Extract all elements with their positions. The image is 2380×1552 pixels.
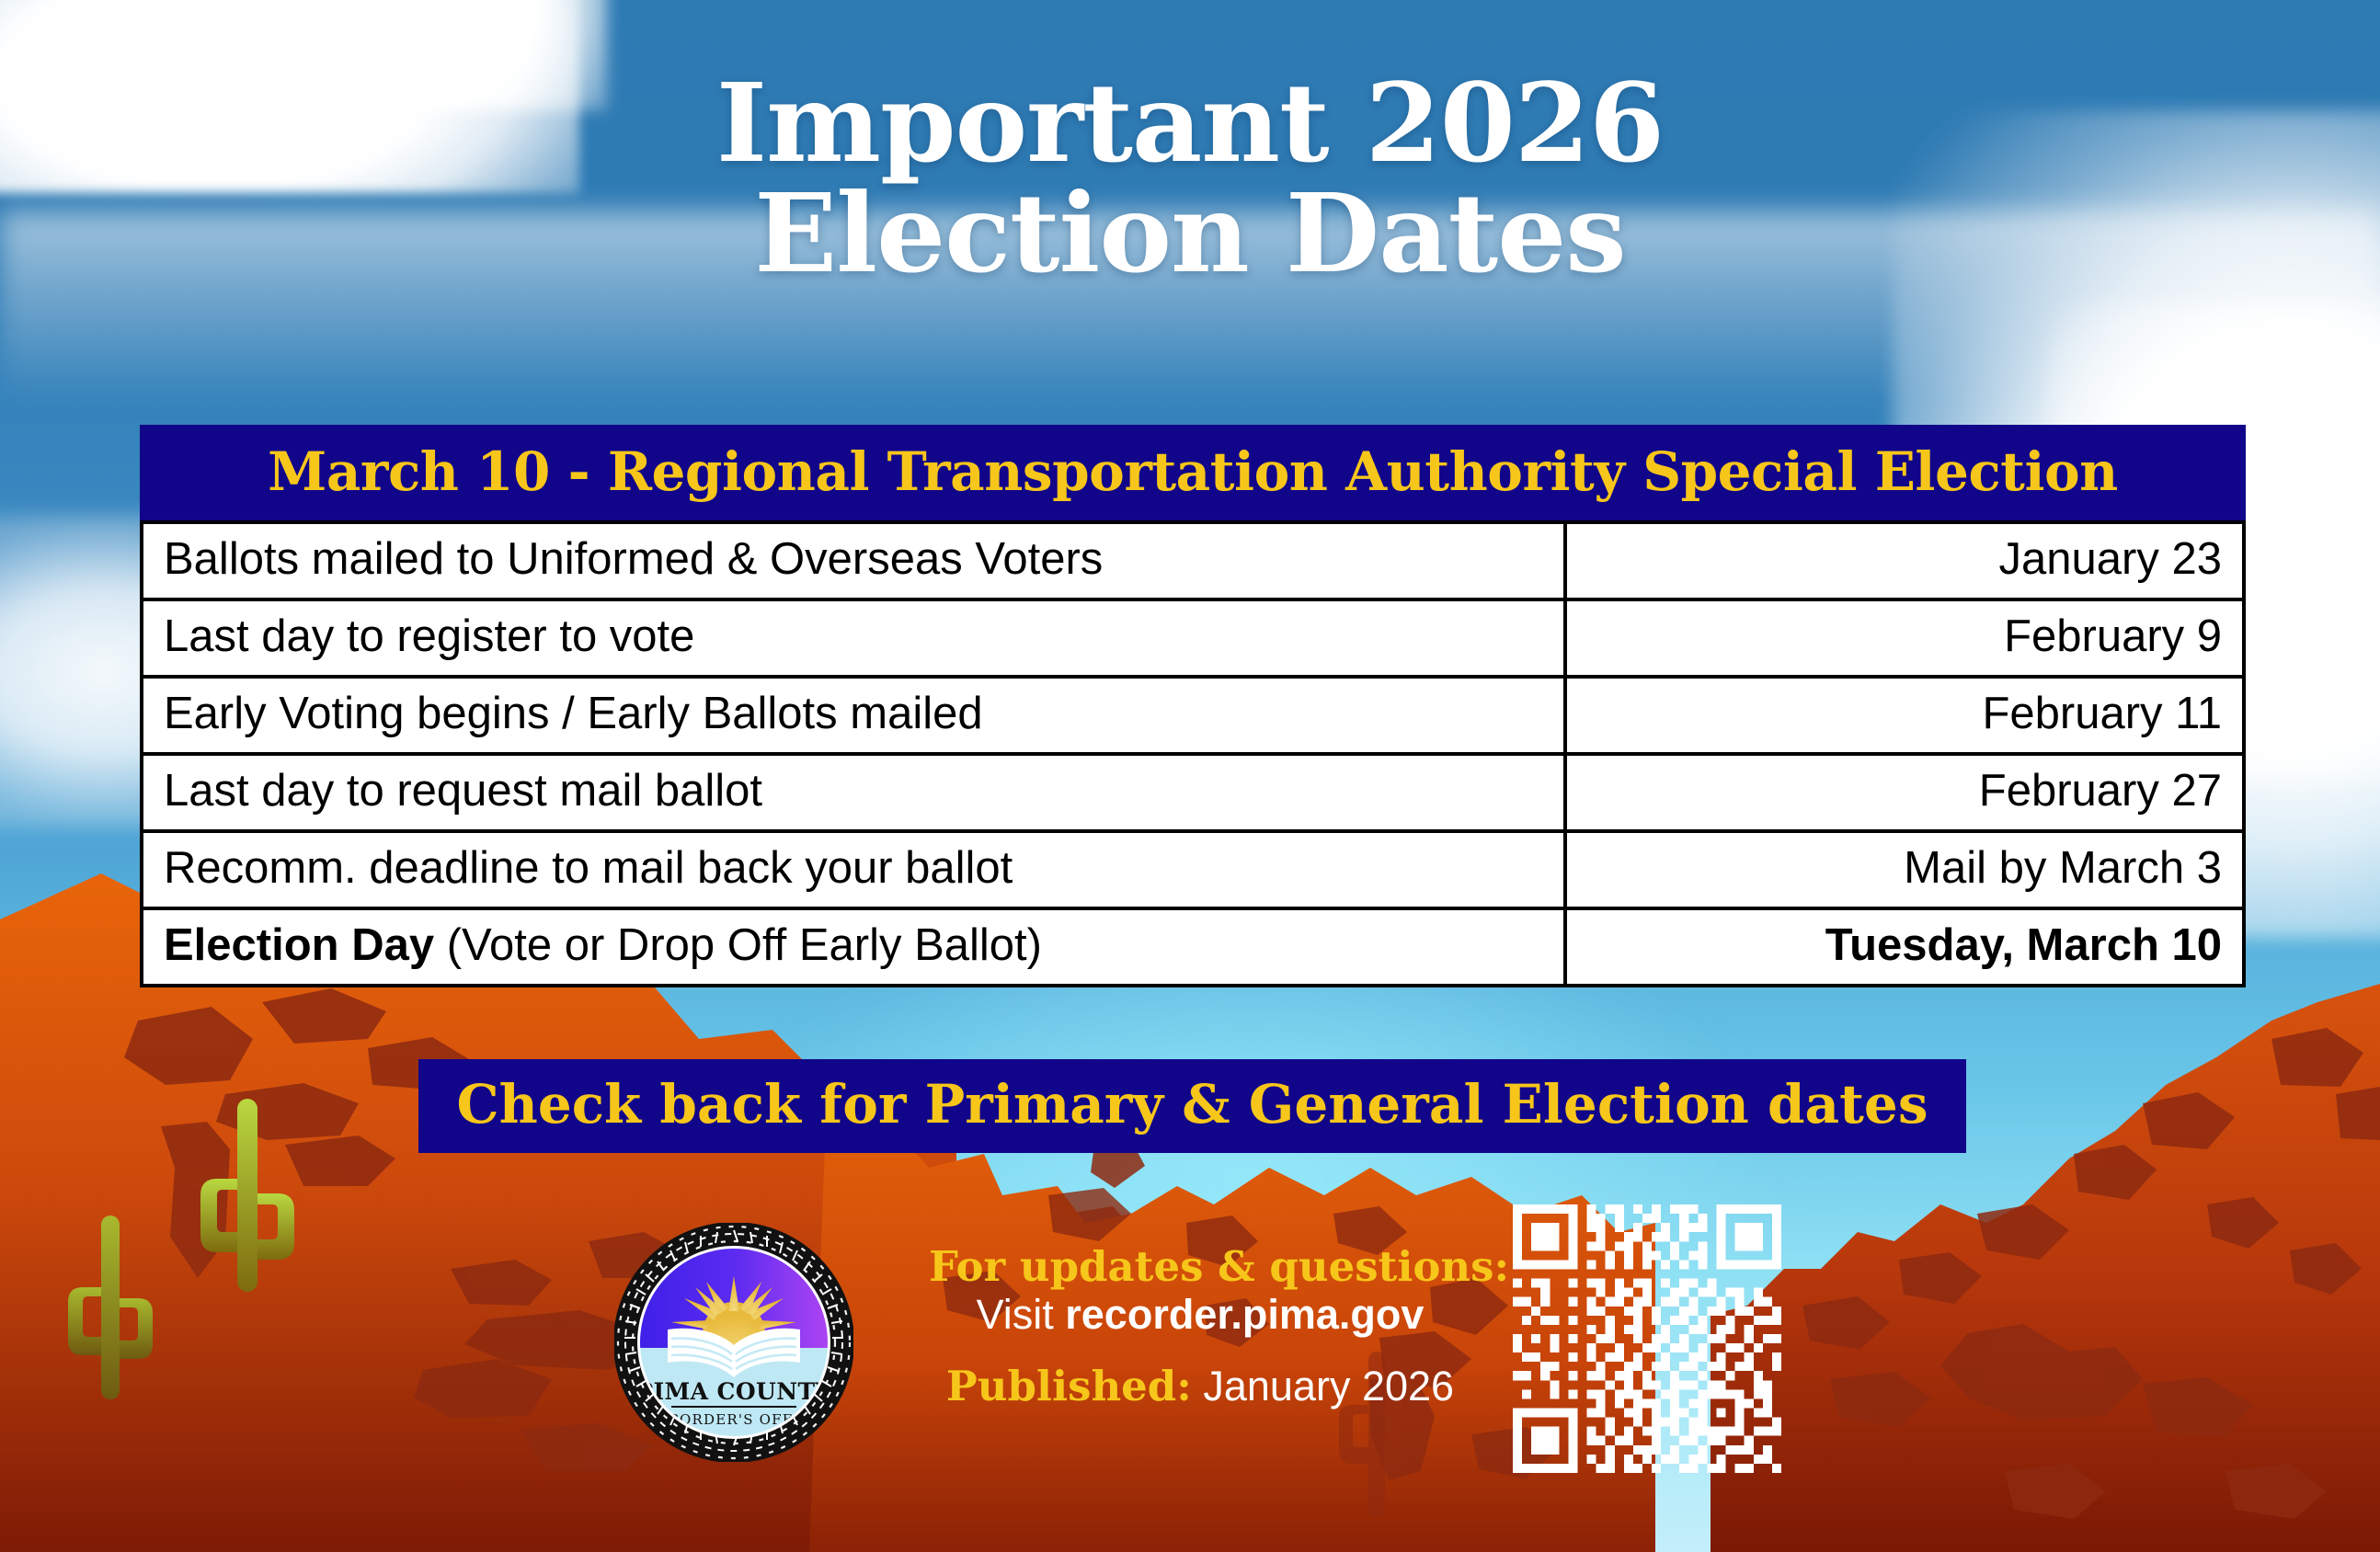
election-dates-table: March 10 - Regional Transportation Autho…	[140, 425, 2246, 987]
contact-block: For updates & questions: Visit recorder.…	[929, 1243, 1471, 1411]
updates-heading: For updates & questions:	[929, 1243, 1471, 1291]
page-title: Important 2026 Election Dates	[0, 68, 2380, 290]
seal-line-1: PIMA COUNTY	[635, 1378, 832, 1405]
row-value: February 27	[1565, 754, 2244, 831]
published-label: Published:	[946, 1362, 1192, 1410]
contact-spacer	[929, 1339, 1471, 1363]
pima-county-recorder-seal-icon: PIMA COUNTY RECORDER'S OFFICE	[614, 1223, 853, 1462]
table-row-election-day: Election Day (Vote or Drop Off Early Bal…	[142, 908, 2244, 986]
dates-table: Ballots mailed to Uniformed & Overseas V…	[140, 520, 2246, 987]
election-day-strong: Election Day	[164, 920, 434, 970]
table-row: Ballots mailed to Uniformed & Overseas V…	[142, 522, 2244, 599]
table-row: Early Voting begins / Early Ballots mail…	[142, 677, 2244, 754]
table-row: Recomm. deadline to mail back your ballo…	[142, 831, 2244, 908]
row-label: Recomm. deadline to mail back your ballo…	[142, 831, 1565, 908]
row-label: Last day to register to vote	[142, 599, 1565, 677]
qr-code-icon[interactable]	[1513, 1204, 1781, 1473]
table-row: Last day to request mail ballot February…	[142, 754, 2244, 831]
election-day-note: (Vote or Drop Off Early Ballot)	[434, 920, 1042, 970]
recorder-url[interactable]: recorder.pima.gov	[1065, 1291, 1424, 1338]
row-value: Mail by March 3	[1565, 831, 2244, 908]
row-value: January 23	[1565, 522, 2244, 599]
row-label-election-day: Election Day (Vote or Drop Off Early Bal…	[142, 908, 1565, 986]
title-line-1: Important 2026	[716, 59, 1664, 187]
title-line-2: Election Dates	[0, 178, 2380, 289]
check-back-banner: Check back for Primary & General Electio…	[418, 1059, 1966, 1153]
row-label: Early Voting begins / Early Ballots mail…	[142, 677, 1565, 754]
table-row: Last day to register to vote February 9	[142, 599, 2244, 677]
row-value-election-day: Tuesday, March 10	[1565, 908, 2244, 986]
table-header-banner: March 10 - Regional Transportation Autho…	[140, 425, 2246, 520]
visit-prefix: Visit	[977, 1291, 1066, 1338]
row-label: Ballots mailed to Uniformed & Overseas V…	[142, 522, 1565, 599]
row-value: February 9	[1565, 599, 2244, 677]
row-label: Last day to request mail ballot	[142, 754, 1565, 831]
published-line: Published: January 2026	[929, 1363, 1471, 1410]
row-value: February 11	[1565, 677, 2244, 754]
published-value: January 2026	[1192, 1363, 1454, 1409]
election-dates-poster: Important 2026 Election Dates March 10 -…	[0, 0, 2380, 1552]
visit-line: Visit recorder.pima.gov	[929, 1291, 1471, 1339]
